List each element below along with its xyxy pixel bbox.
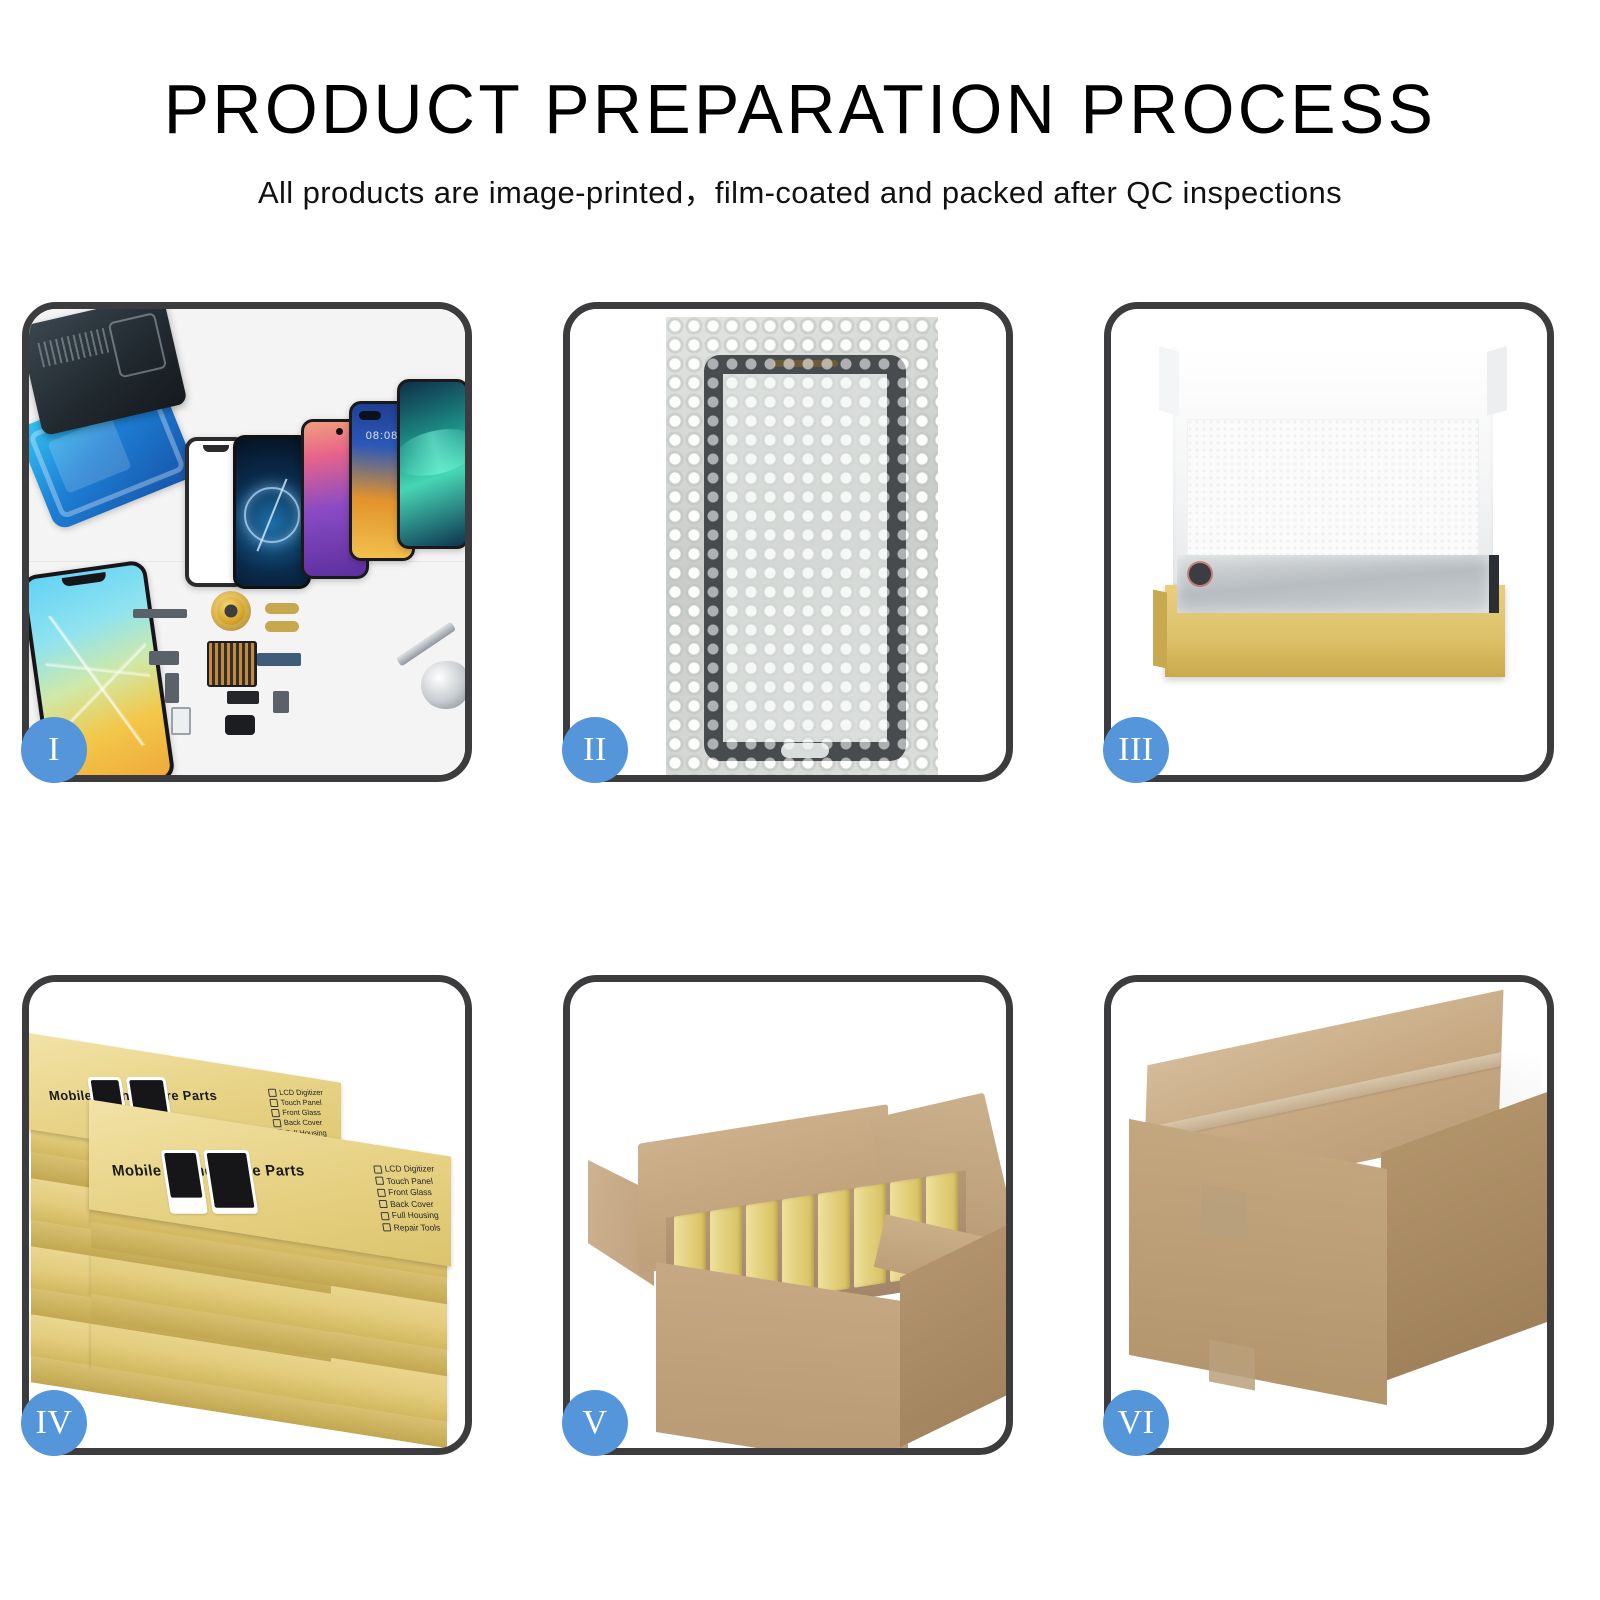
sim-tray-part xyxy=(171,707,191,735)
box-product-photos-lower xyxy=(161,1150,259,1214)
step-3-image xyxy=(1111,309,1547,775)
checklist-item: Full Housing xyxy=(380,1210,442,1222)
step-badge-2: II xyxy=(562,717,628,783)
process-step-panel-6[interactable]: VI xyxy=(1104,975,1554,1455)
step-5-image xyxy=(570,982,1006,1448)
step-badge-5: V xyxy=(562,1390,628,1456)
process-step-panel-2[interactable]: II xyxy=(563,302,1013,782)
flex-cable-part-a xyxy=(265,603,299,614)
checklist-item: Front Glass xyxy=(376,1187,438,1199)
step-badge-4: IV xyxy=(21,1390,87,1456)
connector-part xyxy=(149,651,179,665)
page-header: PRODUCT PREPARATION PROCESS All products… xyxy=(0,0,1600,212)
carton-tape-patch-lower xyxy=(1209,1340,1255,1391)
step-badge-6: VI xyxy=(1103,1390,1169,1456)
camera-flex-part xyxy=(257,653,301,666)
process-step-panel-4[interactable]: Mobile Phone Spare Parts LCD Digitizer T… xyxy=(22,975,472,1455)
step-badge-3: III xyxy=(1103,717,1169,783)
step-2-image xyxy=(570,309,1006,775)
process-step-panel-5[interactable]: V xyxy=(563,975,1013,1455)
phone-clock-label: 08:08 xyxy=(366,430,399,442)
sealed-carton-front-face xyxy=(1129,1119,1387,1405)
retail-box-stack: Mobile Phone Spare Parts LCD Digitizer T… xyxy=(29,982,465,1448)
wrapped-digitizer xyxy=(704,355,906,761)
checklist-item: Back Cover xyxy=(378,1198,440,1210)
checklist-item: Repair Tools xyxy=(382,1222,444,1234)
kraft-box-tray xyxy=(1165,585,1505,677)
small-flex-part xyxy=(165,673,179,703)
flex-cable-part-b xyxy=(265,621,299,632)
step-1-image: 08:08 xyxy=(29,309,465,775)
checklist-item: LCD Digitizer xyxy=(267,1088,323,1098)
page-subtitle: All products are image-printed，film-coat… xyxy=(0,167,1600,212)
earpiece-mesh-part xyxy=(133,609,187,618)
step-4-image: Mobile Phone Spare Parts LCD Digitizer T… xyxy=(29,982,465,1448)
carton-tape-patch-upper xyxy=(1201,1184,1247,1241)
speaker-part xyxy=(273,691,289,713)
home-button-cutout xyxy=(781,743,829,758)
packed-box xyxy=(818,1189,850,1294)
checklist-item: Back Cover xyxy=(272,1118,328,1128)
process-step-panel-3[interactable]: III xyxy=(1104,302,1554,782)
checklist-item: Front Glass xyxy=(271,1108,327,1118)
box-photo-small xyxy=(161,1150,208,1214)
box-photo-large xyxy=(203,1150,258,1214)
wireless-charging-coil-part xyxy=(211,591,251,631)
step-6-image xyxy=(1111,982,1547,1448)
box-checklist-lower: LCD Digitizer Touch Panel Front Glass Ba… xyxy=(373,1164,444,1234)
button-part xyxy=(225,715,255,735)
cracked-blue-screen-phone xyxy=(233,435,311,589)
step-badge-1: I xyxy=(21,717,87,783)
teal-swirl-phone xyxy=(397,379,465,549)
page-title: PRODUCT PREPARATION PROCESS xyxy=(24,74,1576,145)
suction-cup-tool xyxy=(421,661,465,709)
bubble-wrap-photo xyxy=(666,317,938,775)
ic-chip-part xyxy=(207,641,257,687)
wrapped-screen-in-box xyxy=(1177,555,1499,613)
process-step-grid: 08:08 I xyxy=(22,302,1590,1455)
process-step-panel-1[interactable]: 08:08 I xyxy=(22,302,472,782)
checklist-item: Touch Panel xyxy=(375,1175,437,1187)
checklist-item: Touch Panel xyxy=(269,1098,325,1108)
checklist-item: LCD Digitizer xyxy=(373,1164,435,1176)
sealed-carton xyxy=(1111,982,1547,1448)
vibrator-part xyxy=(227,691,259,704)
